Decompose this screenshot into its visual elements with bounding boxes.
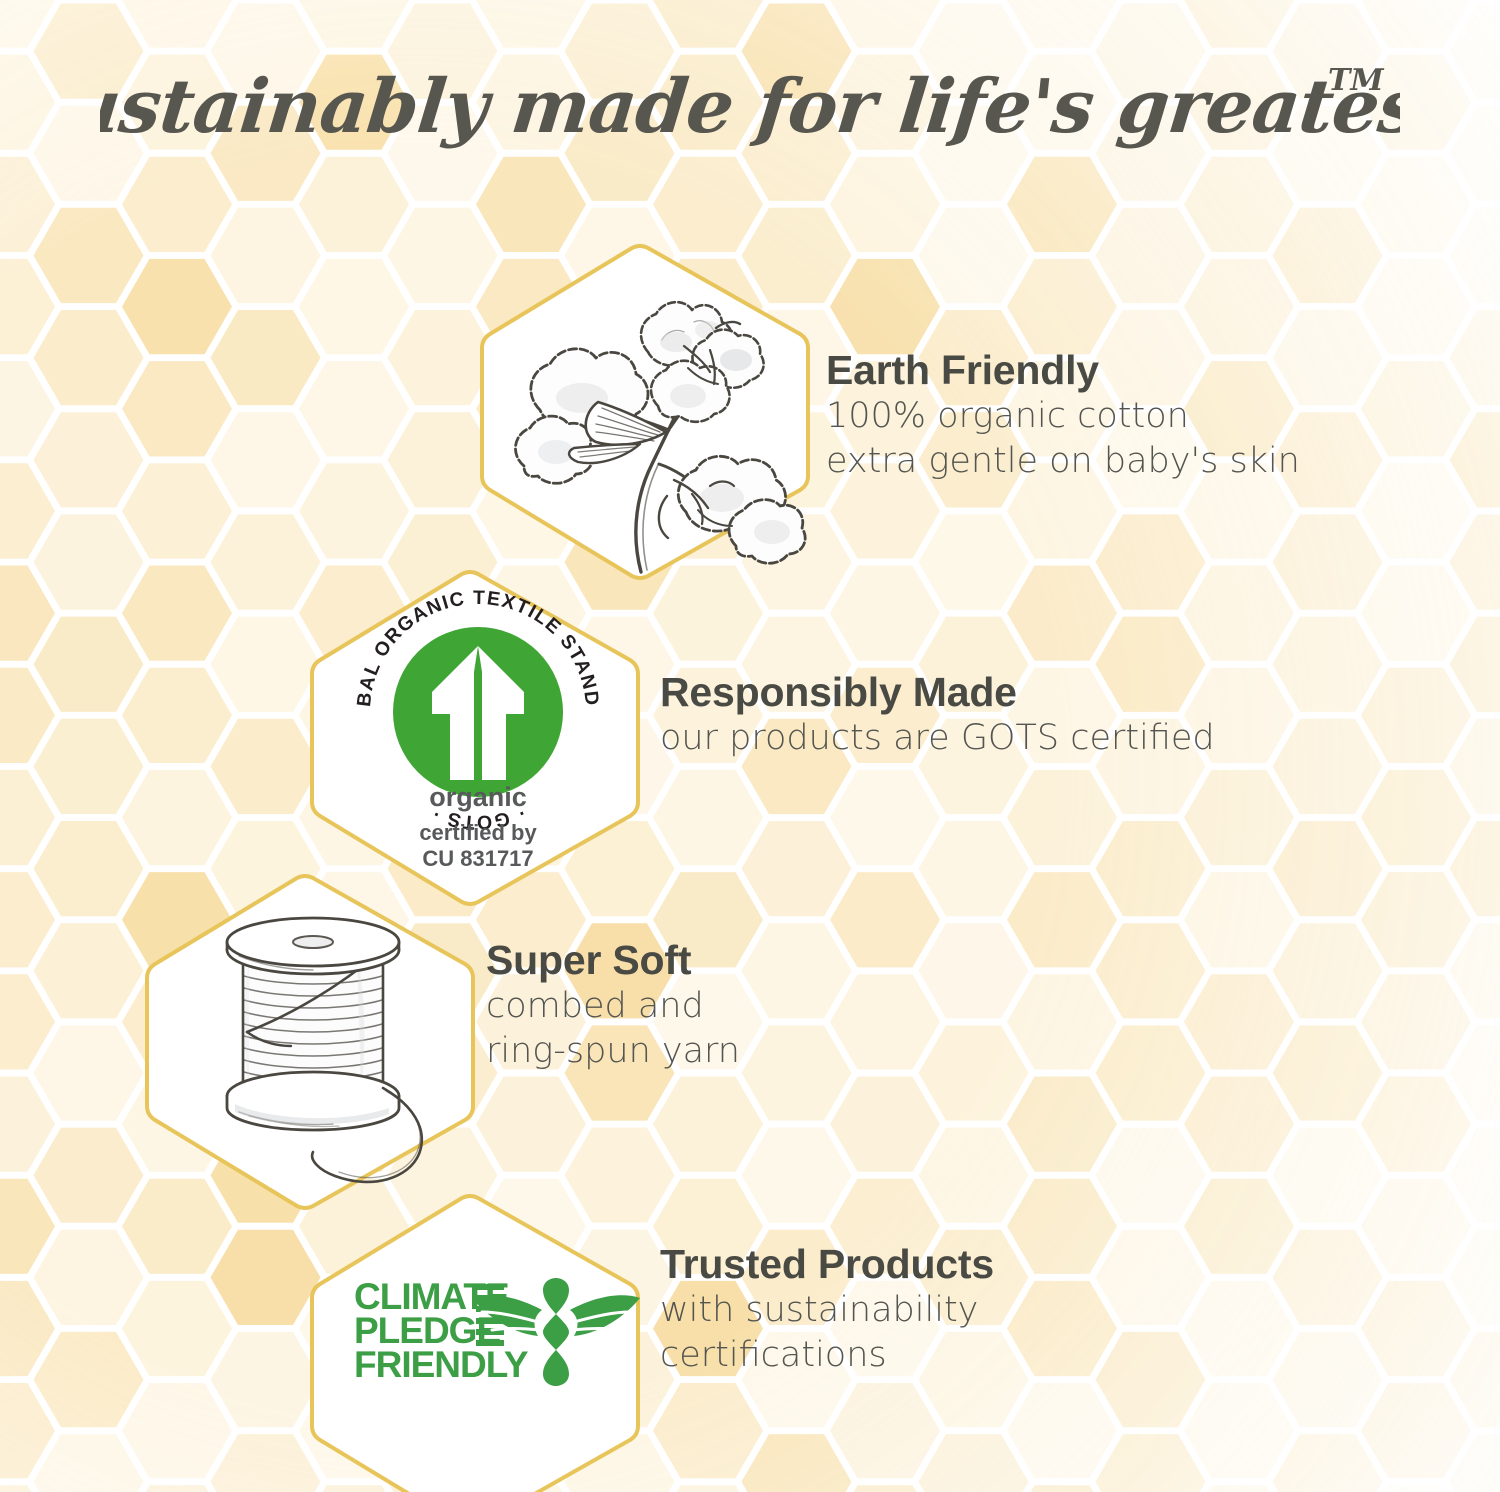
honeycomb-cell bbox=[34, 514, 144, 609]
feature-title: Earth Friendly bbox=[826, 348, 1300, 394]
honeycomb-cell bbox=[211, 719, 321, 814]
honeycomb-cell bbox=[476, 0, 586, 48]
honeycomb-cell bbox=[1450, 719, 1500, 814]
honeycomb-cell bbox=[0, 259, 55, 354]
honeycomb-cell bbox=[1273, 208, 1383, 303]
gots-certifier-code: CU 831717 bbox=[422, 846, 533, 871]
feature-description-line: our products are GOTS certified bbox=[660, 716, 1215, 762]
feature-hex-super-soft bbox=[143, 872, 483, 1212]
honeycomb-cell bbox=[299, 463, 409, 558]
honeycomb-cell bbox=[1361, 974, 1471, 1069]
honeycomb-cell bbox=[1273, 821, 1383, 916]
honeycomb-cell bbox=[653, 770, 763, 865]
honeycomb-cell bbox=[653, 1077, 763, 1172]
honeycomb-cell bbox=[830, 1077, 940, 1172]
honeycomb-cell bbox=[1007, 770, 1117, 865]
honeycomb-cell bbox=[742, 1025, 852, 1120]
honeycomb-cell bbox=[122, 1281, 232, 1376]
cpf-line-3: FRIENDLY bbox=[354, 1344, 529, 1385]
honeycomb-cell bbox=[122, 668, 232, 763]
honeycomb-cell bbox=[830, 872, 940, 967]
honeycomb-cell bbox=[0, 1077, 55, 1172]
honeycomb-cell bbox=[122, 566, 232, 661]
honeycomb-cell bbox=[1361, 1485, 1471, 1492]
honeycomb-cell bbox=[1450, 617, 1500, 712]
honeycomb-cell bbox=[34, 821, 144, 916]
honeycomb-cell bbox=[122, 770, 232, 865]
honeycomb-cell bbox=[122, 1383, 232, 1478]
honeycomb-cell bbox=[476, 157, 586, 252]
honeycomb-cell bbox=[1273, 1230, 1383, 1325]
honeycomb-cell bbox=[34, 1128, 144, 1223]
feature-title: Trusted Products bbox=[660, 1242, 994, 1288]
honeycomb-cell bbox=[1007, 1485, 1117, 1492]
honeycomb-cell bbox=[1361, 566, 1471, 661]
honeycomb-cell bbox=[1007, 872, 1117, 967]
honeycomb-cell bbox=[299, 361, 409, 456]
honeycomb-cell bbox=[1273, 923, 1383, 1018]
honeycomb-cell bbox=[919, 1025, 1029, 1120]
honeycomb-cell bbox=[34, 310, 144, 405]
honeycomb-cell bbox=[34, 617, 144, 712]
honeycomb-cell bbox=[1450, 1332, 1500, 1427]
honeycomb-cell bbox=[34, 1434, 144, 1492]
honeycomb-cell bbox=[1184, 974, 1294, 1069]
honeycomb-cell bbox=[0, 1383, 55, 1478]
honeycomb-cell bbox=[0, 566, 55, 661]
honeycomb-cell bbox=[1361, 0, 1471, 48]
gots-certified-by-label: certified by bbox=[419, 820, 537, 845]
trademark-symbol: TM bbox=[1328, 63, 1384, 98]
honeycomb-cell bbox=[0, 872, 55, 967]
honeycomb-cell bbox=[919, 821, 1029, 916]
honeycomb-cell bbox=[830, 770, 940, 865]
honeycomb-cell bbox=[211, 412, 321, 507]
honeycomb-cell bbox=[830, 1485, 940, 1492]
honeycomb-cell bbox=[122, 0, 232, 48]
honeycomb-cell bbox=[211, 617, 321, 712]
feature-description: combed and ring-spun yarn bbox=[486, 984, 740, 1075]
honeycomb-cell bbox=[919, 923, 1029, 1018]
honeycomb-cell bbox=[1450, 1128, 1500, 1223]
honeycomb-cell bbox=[1450, 412, 1500, 507]
honeycomb-cell bbox=[1184, 1485, 1294, 1492]
honeycomb-cell bbox=[34, 412, 144, 507]
honeycomb-cell bbox=[1361, 1281, 1471, 1376]
honeycomb-cell bbox=[299, 157, 409, 252]
feature-description: with sustainability certifications bbox=[660, 1288, 994, 1379]
honeycomb-cell bbox=[0, 361, 55, 456]
honeycomb-cell bbox=[34, 1332, 144, 1427]
honeycomb-cell bbox=[0, 1179, 55, 1274]
honeycomb-cell bbox=[1361, 1383, 1471, 1478]
gots-green-disc bbox=[393, 627, 563, 797]
honeycomb-cell bbox=[742, 923, 852, 1018]
honeycomb-cell bbox=[1096, 923, 1206, 1018]
honeycomb-cell bbox=[1361, 463, 1471, 558]
feature-description: 100% organic cotton extra gentle on baby… bbox=[826, 394, 1300, 485]
honeycomb-cell bbox=[653, 1383, 763, 1478]
feature-text-trusted-products: Trusted Products with sustainability cer… bbox=[660, 1242, 994, 1379]
gots-organic-label: organic bbox=[429, 782, 527, 812]
honeycomb-cell bbox=[34, 923, 144, 1018]
honeycomb-cell bbox=[299, 0, 409, 48]
honeycomb-cell bbox=[1450, 514, 1500, 609]
honeycomb-cell bbox=[1096, 1230, 1206, 1325]
honeycomb-cell bbox=[34, 719, 144, 814]
honeycomb-cell bbox=[1184, 157, 1294, 252]
honeycomb-cell bbox=[211, 310, 321, 405]
honeycomb-cell bbox=[122, 259, 232, 354]
honeycomb-cell bbox=[0, 157, 55, 252]
page-title: sustainably made for life's greatest joy… bbox=[0, 48, 1500, 168]
feature-title: Responsibly Made bbox=[660, 670, 1215, 716]
honeycomb-cell bbox=[1361, 1179, 1471, 1274]
honeycomb-cell bbox=[742, 1128, 852, 1223]
honeycomb-cell bbox=[1007, 1077, 1117, 1172]
feature-text-earth-friendly: Earth Friendly 100% organic cotton extra… bbox=[826, 348, 1300, 485]
honeycomb-cell bbox=[653, 157, 763, 252]
honeycomb-cell bbox=[1007, 1179, 1117, 1274]
feature-description-line: combed and bbox=[486, 984, 740, 1030]
honeycomb-cell bbox=[1273, 1332, 1383, 1427]
feature-hex-earth-friendly bbox=[478, 242, 818, 582]
honeycomb-cell bbox=[211, 1230, 321, 1325]
honeycomb-cell bbox=[830, 157, 940, 252]
honeycomb-cell bbox=[1273, 514, 1383, 609]
honeycomb-cell bbox=[1184, 0, 1294, 48]
honeycomb-cell bbox=[1361, 259, 1471, 354]
feature-hex-trusted-products: CLIMATE PLEDGE FRIENDLY bbox=[308, 1192, 648, 1492]
honeycomb-cell bbox=[211, 1332, 321, 1427]
honeycomb-cell bbox=[0, 668, 55, 763]
honeycomb-cell bbox=[0, 0, 55, 48]
honeycomb-cell bbox=[34, 1025, 144, 1120]
honeycomb-cell bbox=[0, 1281, 55, 1376]
honeycomb-cell bbox=[1007, 1383, 1117, 1478]
honeycomb-cell bbox=[830, 566, 940, 661]
honeycomb-cell bbox=[1096, 514, 1206, 609]
honeycomb-cell bbox=[1184, 1077, 1294, 1172]
honeycomb-cell bbox=[1007, 259, 1117, 354]
honeycomb-cell bbox=[919, 514, 1029, 609]
honeycomb-cell bbox=[1007, 566, 1117, 661]
honeycomb-cell bbox=[34, 208, 144, 303]
honeycomb-cell bbox=[1450, 208, 1500, 303]
honeycomb-cell bbox=[1184, 770, 1294, 865]
honeycomb-cell bbox=[1361, 361, 1471, 456]
feature-hex-responsibly-made: GLOBAL ORGANIC TEXTILE STANDARD · GOTS ·… bbox=[308, 568, 648, 908]
honeycomb-cell bbox=[830, 974, 940, 1069]
honeycomb-cell bbox=[653, 1485, 763, 1492]
honeycomb-cell bbox=[1361, 872, 1471, 967]
honeycomb-cell bbox=[1273, 1128, 1383, 1223]
honeycomb-cell bbox=[1007, 1281, 1117, 1376]
honeycomb-cell bbox=[1007, 0, 1117, 48]
honeycomb-cell bbox=[1450, 1230, 1500, 1325]
honeycomb-cell bbox=[1096, 1332, 1206, 1427]
honeycomb-cell bbox=[1096, 1128, 1206, 1223]
honeycomb-cell bbox=[211, 1434, 321, 1492]
honeycomb-cell bbox=[1184, 1179, 1294, 1274]
honeycomb-cell bbox=[830, 1383, 940, 1478]
honeycomb-cell bbox=[919, 208, 1029, 303]
honeycomb-cell bbox=[1096, 208, 1206, 303]
honeycomb-cell bbox=[211, 514, 321, 609]
feature-text-responsibly-made: Responsibly Made our products are GOTS c… bbox=[660, 670, 1215, 761]
honeycomb-cell bbox=[830, 259, 940, 354]
honeycomb-cell bbox=[1361, 1077, 1471, 1172]
honeycomb-cell bbox=[919, 1434, 1029, 1492]
honeycomb-cell bbox=[1450, 821, 1500, 916]
honeycomb-cell bbox=[1361, 770, 1471, 865]
headline-script-text: sustainably made for life's greatest joy bbox=[100, 63, 1400, 150]
promotional-banner: sustainably made for life's greatest joy… bbox=[0, 0, 1500, 1492]
honeycomb-cell bbox=[1361, 668, 1471, 763]
honeycomb-cell bbox=[653, 0, 763, 48]
honeycomb-cell bbox=[122, 361, 232, 456]
honeycomb-cell bbox=[1184, 259, 1294, 354]
honeycomb-cell bbox=[122, 1485, 232, 1492]
honeycomb-cell bbox=[1450, 310, 1500, 405]
feature-title: Super Soft bbox=[486, 938, 740, 984]
honeycomb-cell bbox=[919, 1128, 1029, 1223]
honeycomb-cell bbox=[742, 821, 852, 916]
honeycomb-cell bbox=[0, 770, 55, 865]
honeycomb-cell bbox=[1007, 974, 1117, 1069]
honeycomb-cell bbox=[1273, 1434, 1383, 1492]
feature-description-line: with sustainability bbox=[660, 1288, 994, 1334]
honeycomb-cell bbox=[1273, 617, 1383, 712]
feature-description-line: 100% organic cotton bbox=[826, 394, 1300, 440]
honeycomb-cell bbox=[1184, 1281, 1294, 1376]
honeycomb-cell bbox=[830, 0, 940, 48]
honeycomb-cell bbox=[1096, 1434, 1206, 1492]
honeycomb-cell bbox=[1096, 821, 1206, 916]
feature-description-line: certifications bbox=[660, 1333, 994, 1379]
feature-description-line: ring-spun yarn bbox=[486, 1029, 740, 1075]
honeycomb-cell bbox=[1096, 1025, 1206, 1120]
honeycomb-cell bbox=[1273, 1025, 1383, 1120]
honeycomb-cell bbox=[299, 259, 409, 354]
honeycomb-cell bbox=[122, 157, 232, 252]
honeycomb-cell bbox=[1361, 157, 1471, 252]
honeycomb-cell bbox=[742, 1434, 852, 1492]
honeycomb-cell bbox=[1184, 872, 1294, 967]
honeycomb-cell bbox=[0, 463, 55, 558]
honeycomb-cell bbox=[1007, 157, 1117, 252]
honeycomb-cell bbox=[1450, 1025, 1500, 1120]
honeycomb-cell bbox=[1184, 566, 1294, 661]
honeycomb-cell bbox=[1273, 719, 1383, 814]
honeycomb-cell bbox=[1450, 1434, 1500, 1492]
honeycomb-cell bbox=[0, 1485, 55, 1492]
honeycomb-cell bbox=[476, 1077, 586, 1172]
honeycomb-cell bbox=[34, 1230, 144, 1325]
honeycomb-cell bbox=[0, 974, 55, 1069]
honeycomb-cell bbox=[1184, 1383, 1294, 1478]
feature-description: our products are GOTS certified bbox=[660, 716, 1215, 762]
feature-text-super-soft: Super Soft combed and ring-spun yarn bbox=[486, 938, 740, 1075]
honeycomb-cell bbox=[1450, 923, 1500, 1018]
honeycomb-cell bbox=[211, 208, 321, 303]
feature-description-line: extra gentle on baby's skin bbox=[826, 439, 1300, 485]
honeycomb-cell bbox=[122, 463, 232, 558]
